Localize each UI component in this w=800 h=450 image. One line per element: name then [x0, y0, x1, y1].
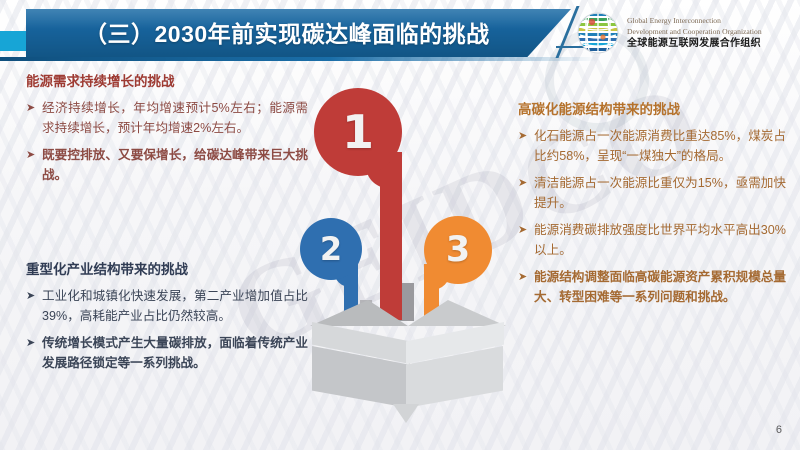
box-flap-right: [408, 300, 506, 326]
organization-logo: Global Energy Interconnection Developmen…: [576, 8, 794, 58]
logo-en-line1: Global Energy Interconnection: [627, 16, 762, 25]
globe-icon: [576, 11, 620, 55]
pin-1-stem: [380, 172, 402, 320]
open-box-illustration: [310, 300, 506, 418]
logo-en-line2: Development and Cooperation Organization: [627, 27, 762, 36]
arrow-bullet-icon: ➤: [518, 127, 529, 166]
left-block2-bullet-1: ➤ 工业化和城镇化快速发展，第二产业增加值占比39%，高耗能产业占比仍然较高。: [26, 287, 308, 326]
arrow-bullet-icon: ➤: [518, 221, 529, 260]
left-block1-bullet-2: ➤ 既要控排放、又要保增长，给碳达峰带来巨大挑战。: [26, 146, 308, 185]
right-block1-heading: 高碳化能源结构带来的挑战: [518, 100, 786, 120]
arrow-bullet-icon: ➤: [26, 146, 37, 185]
slide-canvas: GEIDCO （三）2030年前实现碳达峰面临的挑战: [0, 0, 800, 450]
arrow-bullet-icon: ➤: [518, 174, 529, 213]
left-column-block-1: 能源需求持续增长的挑战 ➤ 经济持续增长，年均增速预计5%左右；能源需求持续增长…: [26, 72, 308, 193]
page-title: （三）2030年前实现碳达峰面临的挑战: [84, 17, 504, 51]
pin-1-label: 1: [314, 88, 402, 176]
box-flap-left: [310, 300, 408, 326]
pin-2-label: 2: [300, 218, 362, 280]
bullet-text: 经济持续增长，年均增速预计5%左右；能源需求持续增长，预计年均增速2%左右。: [42, 99, 308, 138]
page-number: 6: [776, 424, 782, 436]
right-block1-bullet-2: ➤ 清洁能源占一次能源比重仅为15%，亟需加快提升。: [518, 174, 786, 213]
cyan-square-decoration: [0, 31, 28, 51]
left-block1-bullet-1: ➤ 经济持续增长，年均增速预计5%左右；能源需求持续增长，预计年均增速2%左右。: [26, 99, 308, 138]
down-arrow-icon: [393, 404, 419, 423]
slide-header: （三）2030年前实现碳达峰面临的挑战: [0, 0, 800, 66]
arrow-bullet-icon: ➤: [26, 334, 37, 373]
right-block1-bullet-1: ➤ 化石能源占一次能源消费比重达85%，煤炭占比约58%，呈现“一煤独大”的格局…: [518, 127, 786, 166]
header-underline: [0, 57, 600, 61]
right-block1-bullet-4: ➤ 能源结构调整面临高碳能源资产累积规模总量大、转型困难等一系列问题和挑战。: [518, 268, 786, 307]
central-infographic: 2 3 1: [300, 88, 515, 418]
bullet-text: 化石能源占一次能源消费比重达85%，煤炭占比约58%，呈现“一煤独大”的格局。: [534, 127, 786, 166]
left-column-block-2: 重型化产业结构带来的挑战 ➤ 工业化和城镇化快速发展，第二产业增加值占比39%，…: [26, 260, 308, 381]
logo-text-block: Global Energy Interconnection Developmen…: [627, 16, 762, 50]
left-block1-heading: 能源需求持续增长的挑战: [26, 72, 308, 92]
arrow-bullet-icon: ➤: [26, 99, 37, 138]
bullet-text: 能源结构调整面临高碳能源资产累积规模总量大、转型困难等一系列问题和挑战。: [534, 268, 786, 307]
arrow-bullet-icon: ➤: [518, 268, 529, 307]
bullet-text: 能源消费碳排放强度比世界平均水平高出30%以上。: [534, 221, 786, 260]
bullet-text: 清洁能源占一次能源比重仅为15%，亟需加快提升。: [534, 174, 786, 213]
logo-cn-line: 全球能源互联网发展合作组织: [627, 38, 762, 50]
bullet-text: 工业化和城镇化快速发展，第二产业增加值占比39%，高耗能产业占比仍然较高。: [42, 287, 308, 326]
bullet-text: 既要控排放、又要保增长，给碳达峰带来巨大挑战。: [42, 146, 308, 185]
left-block2-heading: 重型化产业结构带来的挑战: [26, 260, 308, 280]
bullet-text: 传统增长模式产生大量碳排放，面临着传统产业发展路径锁定等一系列挑战。: [42, 334, 308, 373]
left-block2-bullet-2: ➤ 传统增长模式产生大量碳排放，面临着传统产业发展路径锁定等一系列挑战。: [26, 334, 308, 373]
pin-3-label: 3: [424, 216, 492, 284]
right-column-block-1: 高碳化能源结构带来的挑战 ➤ 化石能源占一次能源消费比重达85%，煤炭占比约58…: [518, 100, 786, 315]
right-block1-bullet-3: ➤ 能源消费碳排放强度比世界平均水平高出30%以上。: [518, 221, 786, 260]
arrow-bullet-icon: ➤: [26, 287, 37, 326]
